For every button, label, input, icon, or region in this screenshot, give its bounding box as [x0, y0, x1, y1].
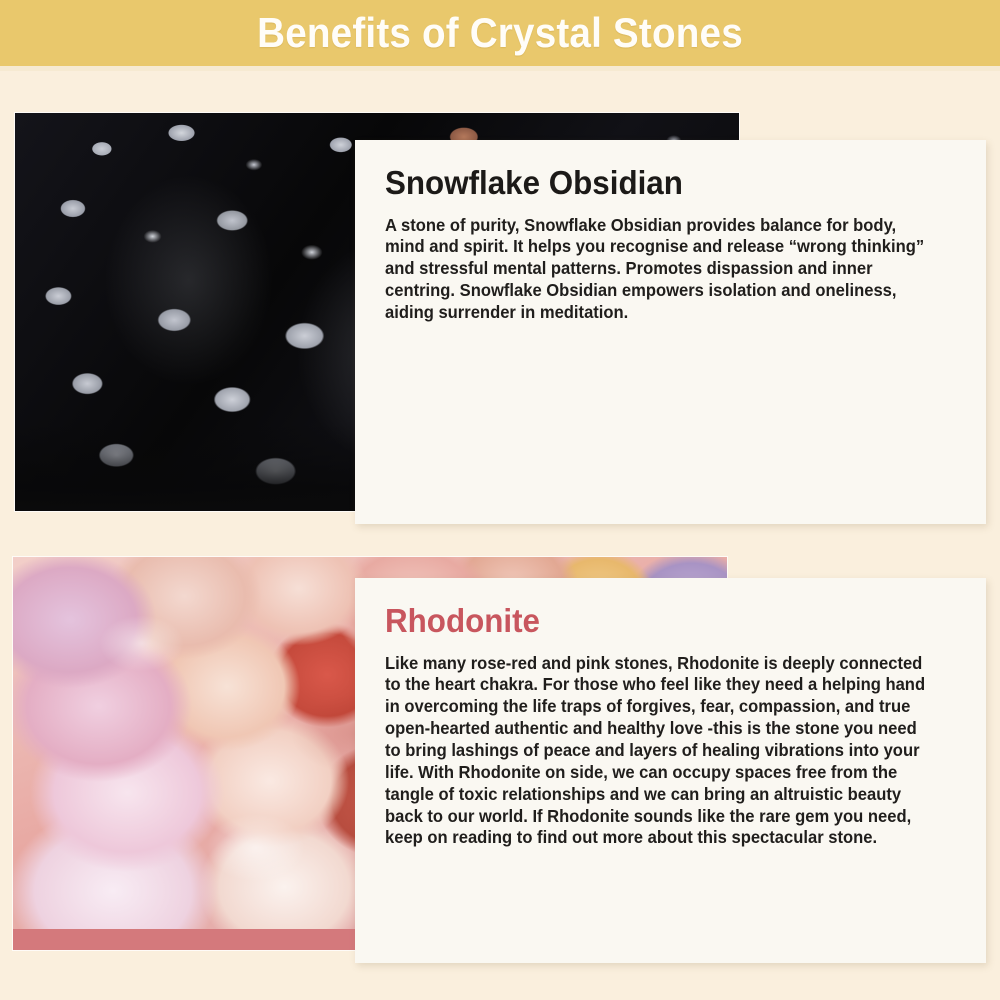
rhodonite-title: Rhodonite: [385, 604, 927, 639]
rhodonite-card: Rhodonite Like many rose-red and pink st…: [355, 578, 986, 963]
snowflake-obsidian-description: A stone of purity, Snowflake Obsidian pr…: [385, 215, 936, 324]
header-divider: [0, 66, 1000, 71]
crystal-benefits-infographic: Benefits of Crystal Stones Snowflake Obs…: [0, 0, 1000, 1000]
header-banner: Benefits of Crystal Stones: [0, 0, 1000, 66]
snowflake-obsidian-title: Snowflake Obsidian: [385, 166, 927, 201]
page-title: Benefits of Crystal Stones: [257, 9, 743, 57]
snowflake-obsidian-card: Snowflake Obsidian A stone of purity, Sn…: [355, 140, 986, 524]
rhodonite-description: Like many rose-red and pink stones, Rhod…: [385, 653, 936, 850]
